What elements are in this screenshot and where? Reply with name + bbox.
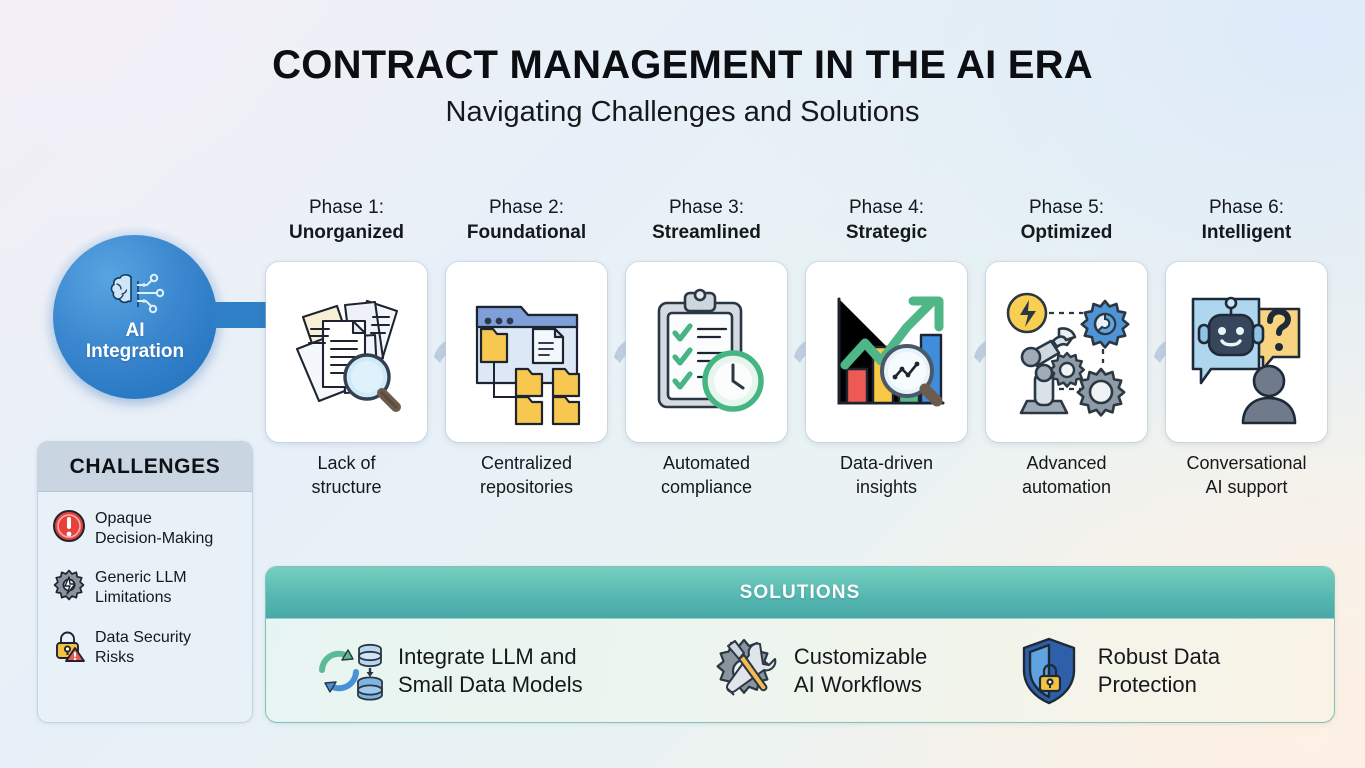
- phase-card-2[interactable]: Phase 2: Foundational: [446, 196, 607, 250]
- solutions-title: SOLUTIONS: [740, 582, 861, 604]
- shield-lock-icon: [1012, 634, 1086, 708]
- solutions-list: Integrate LLM and Small Data Models: [266, 619, 1334, 722]
- solutions-panel: SOLUTIONS: [265, 566, 1335, 723]
- phase-name-3: Streamlined: [626, 221, 787, 246]
- folder-hierarchy-window-icon: [461, 277, 593, 427]
- solution-2-line1: Customizable: [794, 644, 927, 669]
- phase-caption-2: Centralized repositories: [434, 452, 619, 500]
- padlock-warning-icon: [52, 628, 86, 662]
- phase-caption-5-line2: automation: [1022, 477, 1111, 497]
- phase-caption-4: Data-driven insights: [794, 452, 979, 500]
- page-subtitle: Navigating Challenges and Solutions: [0, 97, 1365, 127]
- phase-card-1[interactable]: Phase 1: Unorganized: [266, 196, 427, 250]
- infographic-canvas: CONTRACT MANAGEMENT IN THE AI ERA Naviga…: [0, 0, 1365, 768]
- challenge-item-1[interactable]: Opaque Decision-Making: [52, 508, 240, 549]
- phase-number-6: Phase 6:: [1209, 197, 1284, 218]
- brain-circuit-icon: [104, 272, 166, 316]
- phase-illustration-6: [1166, 262, 1327, 442]
- phase-caption-5: Advanced automation: [974, 452, 1159, 500]
- challenges-header: CHALLENGES: [38, 442, 252, 492]
- page-title: CONTRACT MANAGEMENT IN THE AI ERA: [0, 44, 1365, 86]
- phase-title-2: Phase 2: Foundational: [446, 196, 607, 250]
- sync-database-icon: [312, 634, 386, 708]
- solution-text-1: Integrate LLM and Small Data Models: [398, 643, 583, 698]
- challenge-text-2: Generic LLM Limitations: [95, 567, 187, 608]
- scattered-documents-magnifier-icon: [281, 277, 413, 427]
- phase-number-2: Phase 2:: [489, 197, 564, 218]
- phase-card-6[interactable]: Phase 6: Intelligent: [1166, 196, 1327, 250]
- gear-wrench-screwdriver-icon: [708, 634, 782, 708]
- phase-caption-3-line2: compliance: [661, 477, 752, 497]
- challenge-text-1: Opaque Decision-Making: [95, 508, 213, 549]
- phase-name-6: Intelligent: [1166, 221, 1327, 246]
- solution-3-line1: Robust Data: [1098, 644, 1220, 669]
- phase-caption-1-line1: Lack of: [317, 453, 375, 473]
- phase-card-3[interactable]: Phase 3: Streamlined: [626, 196, 787, 250]
- solutions-header: SOLUTIONS: [266, 567, 1334, 619]
- phase-caption-2-line1: Centralized: [481, 453, 572, 473]
- clipboard-checklist-clock-icon: [641, 277, 773, 427]
- challenge-1-line1: Opaque: [95, 510, 152, 527]
- phase-card-4[interactable]: Phase 4: Strategic: [806, 196, 967, 250]
- challenge-item-2[interactable]: Generic LLM Limitations: [52, 567, 240, 608]
- phase-illustration-5: [986, 262, 1147, 442]
- phase-caption-4-line1: Data-driven: [840, 453, 933, 473]
- challenges-panel: CHALLENGES Opaque Decision-Making: [37, 441, 253, 723]
- header: CONTRACT MANAGEMENT IN THE AI ERA Naviga…: [0, 44, 1365, 127]
- challenges-list: Opaque Decision-Making Generic LLM Limit…: [38, 492, 252, 668]
- challenge-1-line2: Decision-Making: [95, 530, 213, 547]
- phase-illustration-1: [266, 262, 427, 442]
- chatbot-user-question-icon: [1181, 277, 1313, 427]
- phase-title-3: Phase 3: Streamlined: [626, 196, 787, 250]
- phase-caption-1-line2: structure: [311, 477, 381, 497]
- hub-label-line1: AI: [125, 320, 144, 341]
- broken-gear-icon: [52, 568, 86, 602]
- bar-chart-growth-magnifier-icon: [821, 277, 953, 427]
- challenge-2-line2: Limitations: [95, 589, 171, 606]
- solution-text-2: Customizable AI Workflows: [794, 643, 927, 698]
- phase-number-5: Phase 5:: [1029, 197, 1104, 218]
- exclamation-circle-icon: [52, 509, 86, 543]
- solution-item-3[interactable]: Robust Data Protection: [1012, 634, 1288, 708]
- phase-number-4: Phase 4:: [849, 197, 924, 218]
- challenge-item-3[interactable]: Data Security Risks: [52, 627, 240, 668]
- phase-name-2: Foundational: [446, 221, 607, 246]
- phase-illustration-3: [626, 262, 787, 442]
- challenge-text-3: Data Security Risks: [95, 627, 191, 668]
- phase-caption-3: Automated compliance: [614, 452, 799, 500]
- phase-number-1: Phase 1:: [309, 197, 384, 218]
- phase-caption-5-line1: Advanced: [1026, 453, 1106, 473]
- challenge-2-line1: Generic LLM: [95, 569, 187, 586]
- hub-label: AI Integration: [86, 320, 184, 363]
- ai-integration-hub: AI Integration: [44, 242, 226, 390]
- phase-caption-2-line2: repositories: [480, 477, 573, 497]
- phase-title-6: Phase 6: Intelligent: [1166, 196, 1327, 250]
- robot-arm-gears-icon: [1001, 277, 1133, 427]
- phase-timeline: Phase 1: Unorganized: [266, 196, 1347, 496]
- phase-illustration-4: [806, 262, 967, 442]
- phase-title-1: Phase 1: Unorganized: [266, 196, 427, 250]
- phase-title-5: Phase 5: Optimized: [986, 196, 1147, 250]
- challenge-3-line2: Risks: [95, 649, 134, 666]
- phase-caption-6-line1: Conversational: [1186, 453, 1306, 473]
- phase-illustration-2: [446, 262, 607, 442]
- solution-2-line2: AI Workflows: [794, 672, 922, 697]
- solution-item-2[interactable]: Customizable AI Workflows: [708, 634, 1012, 708]
- hub-circle: AI Integration: [53, 235, 217, 399]
- solution-1-line2: Small Data Models: [398, 672, 583, 697]
- phase-caption-6: Conversational AI support: [1154, 452, 1339, 500]
- solution-3-line2: Protection: [1098, 672, 1197, 697]
- phase-caption-4-line2: insights: [856, 477, 917, 497]
- hub-label-line2: Integration: [86, 341, 184, 362]
- phase-name-1: Unorganized: [266, 221, 427, 246]
- phase-card-5[interactable]: Phase 5: Optimized: [986, 196, 1147, 250]
- solution-1-line1: Integrate LLM and: [398, 644, 577, 669]
- phase-caption-3-line1: Automated: [663, 453, 750, 473]
- phase-name-5: Optimized: [986, 221, 1147, 246]
- phase-caption-6-line2: AI support: [1205, 477, 1287, 497]
- phase-name-4: Strategic: [806, 221, 967, 246]
- phase-title-4: Phase 4: Strategic: [806, 196, 967, 250]
- solution-item-1[interactable]: Integrate LLM and Small Data Models: [312, 634, 708, 708]
- challenges-title: CHALLENGES: [70, 455, 221, 479]
- challenge-3-line1: Data Security: [95, 629, 191, 646]
- solution-text-3: Robust Data Protection: [1098, 643, 1220, 698]
- phase-number-3: Phase 3:: [669, 197, 744, 218]
- phase-caption-1: Lack of structure: [254, 452, 439, 500]
